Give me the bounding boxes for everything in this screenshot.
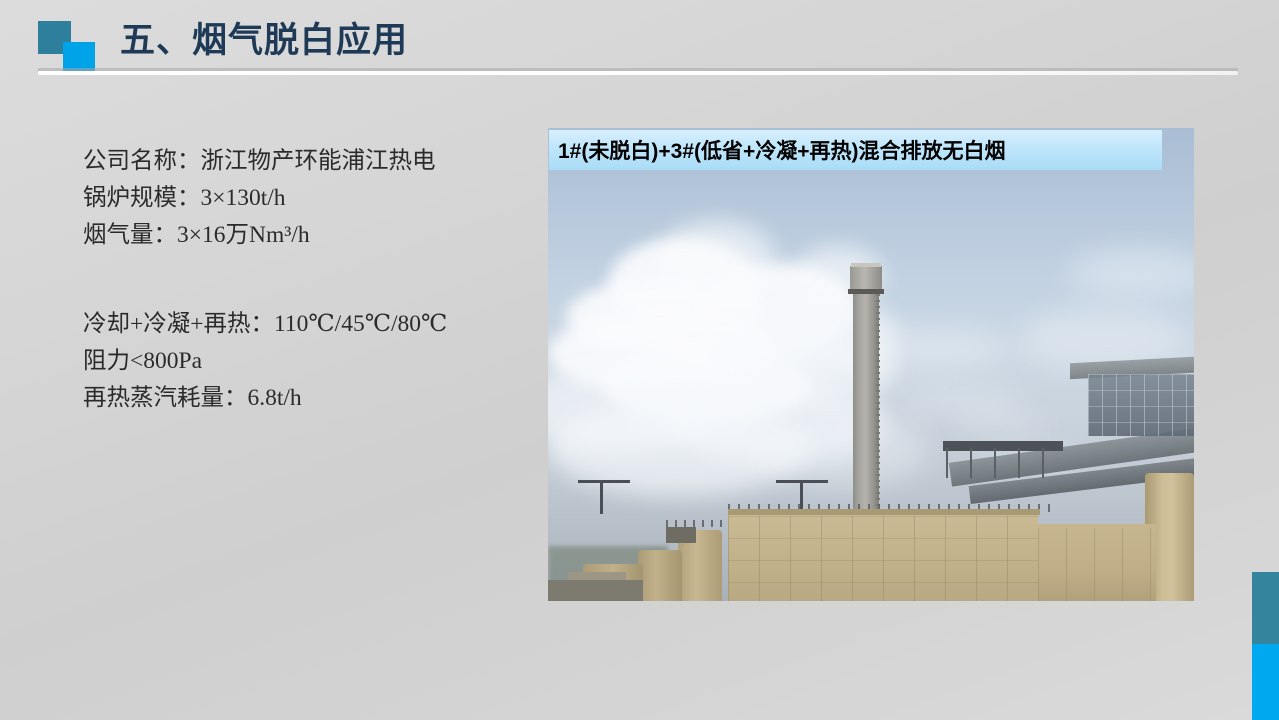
- process-temperatures-line: 冷却+冷凝+再热：110℃/45℃/80℃: [83, 306, 513, 343]
- resistance-line: 阻力<800Pa: [83, 343, 513, 380]
- content-text-column: 公司名称：浙江物产环能浦江热电 锅炉规模：3×130t/h 烟气量：3×16万N…: [83, 143, 513, 417]
- plant-photo: [548, 128, 1194, 601]
- title-divider: [38, 71, 1238, 75]
- chimney-rim: [851, 263, 881, 267]
- roof-equipment-block: [666, 527, 696, 543]
- content-text-block-two: 冷却+冷凝+再热：110℃/45℃/80℃ 阻力<800Pa 再热蒸汽耗量：6.…: [83, 306, 513, 417]
- roof-crane: [578, 480, 630, 514]
- reheat-steam-consumption-line: 再热蒸汽耗量：6.8t/h: [83, 380, 513, 417]
- chimney-cap: [850, 266, 882, 290]
- flue-gas-volume-line: 烟气量：3×16万Nm³/h: [83, 217, 513, 254]
- chimney-platform-band: [848, 289, 884, 294]
- cloud-streak: [903, 390, 1023, 410]
- slide-root: 五、烟气脱白应用 公司名称：浙江物产环能浦江热电 锅炉规模：3×130t/h 烟…: [0, 0, 1279, 720]
- storage-silo: [638, 550, 682, 601]
- low-roof-slab: [548, 580, 643, 601]
- roof-railing-left: [666, 520, 736, 527]
- photo-caption-text: 1#(未脱白)+3#(低省+冷凝+再热)混合排放无白烟: [558, 135, 1005, 165]
- corner-accent-bottom: [1252, 644, 1279, 720]
- page-title: 五、烟气脱白应用: [120, 18, 408, 64]
- gantry-legs: [946, 448, 1061, 478]
- corner-accent-top: [1252, 572, 1279, 644]
- chimney-ladder: [876, 294, 880, 520]
- main-wall-panel-texture: [728, 516, 1038, 601]
- main-wall-coping: [728, 509, 1040, 515]
- cloud-streak: [956, 418, 1046, 433]
- right-wall-panel-texture: [1038, 528, 1156, 601]
- boiler-scale-line: 锅炉规模：3×130t/h: [83, 180, 513, 217]
- corner-accent-bar: [1252, 572, 1279, 720]
- company-name-line: 公司名称：浙江物产环能浦江热电: [83, 143, 513, 180]
- photo-caption-banner: 1#(未脱白)+3#(低省+冷凝+再热)混合排放无白烟: [549, 130, 1162, 170]
- plant-building-grid: [1088, 374, 1194, 436]
- cloud-puff: [758, 416, 928, 486]
